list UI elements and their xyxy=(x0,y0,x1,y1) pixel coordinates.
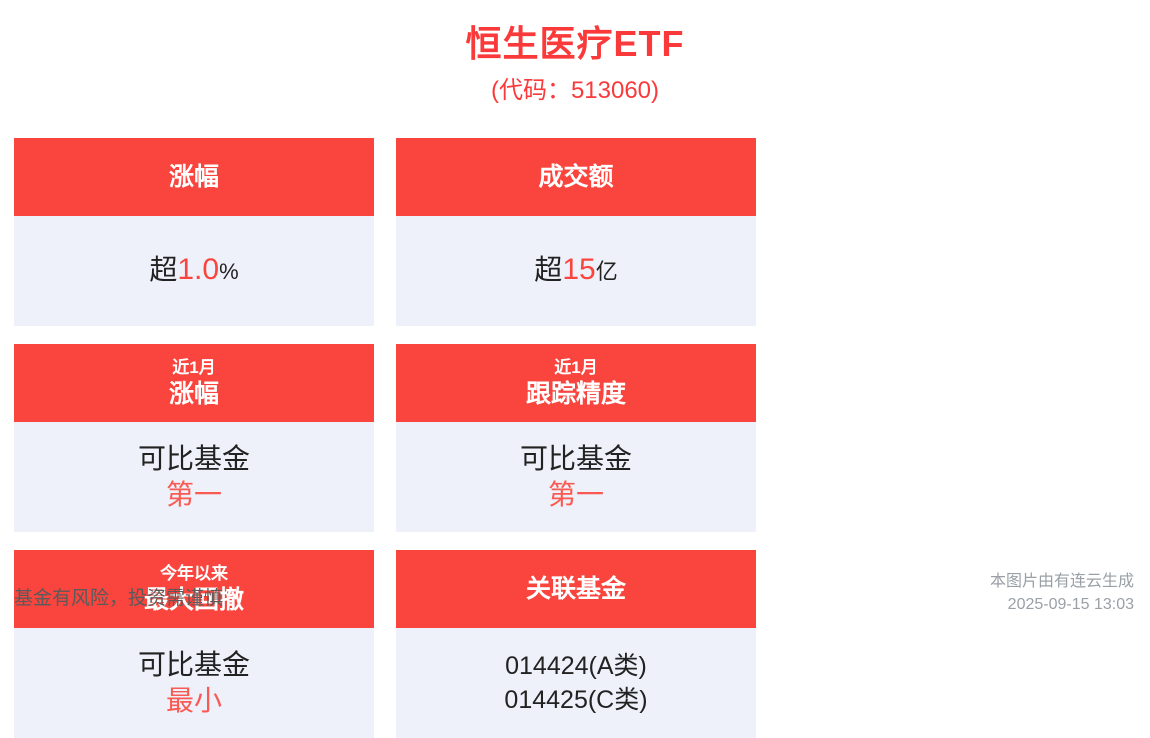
generation-info: 本图片由有连云生成 2025-09-15 13:03 xyxy=(990,570,1134,616)
card-value-row: 超15亿 xyxy=(534,252,617,290)
metric-card-related-funds: 关联基金 014424(A类) 014425(C类) xyxy=(396,550,756,738)
card-value-row: 超1.0% xyxy=(149,252,238,290)
card-body: 可比基金 第一 xyxy=(396,422,756,532)
fund-code: (代码：513060) xyxy=(0,74,1150,108)
card-header-title: 关联基金 xyxy=(526,574,626,605)
card-header-subtitle: 今年以来 xyxy=(160,563,228,585)
card-value-line-1: 可比基金 xyxy=(520,441,632,477)
card-header-title: 成交额 xyxy=(538,162,613,193)
poster-root: 恒生医疗ETF (代码：513060) 涨幅 超1.0% 成交额 超15亿 xyxy=(0,0,1150,632)
card-body: 超1.0% xyxy=(14,216,374,326)
related-fund-code-c: 014425(C类) xyxy=(504,683,647,717)
card-body: 可比基金 最小 xyxy=(14,628,374,738)
card-header-title: 涨幅 xyxy=(169,379,219,410)
card-header-title: 涨幅 xyxy=(169,162,219,193)
header: 恒生医疗ETF (代码：513060) xyxy=(0,0,1150,108)
card-header-subtitle: 近1月 xyxy=(172,357,215,379)
value-prefix: 超 xyxy=(149,254,177,285)
card-body: 超15亿 xyxy=(396,216,756,326)
value-number: 1.0 xyxy=(177,253,219,286)
card-value-line-2: 第一 xyxy=(166,477,222,513)
page-title: 恒生医疗ETF xyxy=(0,22,1150,66)
risk-disclaimer: 基金有风险，投资需谨慎 xyxy=(14,583,223,610)
card-header-title: 跟踪精度 xyxy=(526,379,626,410)
card-header: 近1月 跟踪精度 xyxy=(396,344,756,422)
metric-card-1month-change: 近1月 涨幅 可比基金 第一 xyxy=(14,344,374,532)
card-header: 成交额 xyxy=(396,138,756,216)
value-number: 15 xyxy=(562,253,595,286)
card-body: 014424(A类) 014425(C类) xyxy=(396,628,756,738)
card-value-line-1: 可比基金 xyxy=(138,441,250,477)
value-prefix: 超 xyxy=(534,254,562,285)
related-fund-code-a: 014424(A类) xyxy=(505,649,647,683)
metric-card-turnover: 成交额 超15亿 xyxy=(396,138,756,326)
card-header-subtitle: 近1月 xyxy=(554,357,597,379)
metric-card-change: 涨幅 超1.0% xyxy=(14,138,374,326)
metric-card-tracking-accuracy: 近1月 跟踪精度 可比基金 第一 xyxy=(396,344,756,532)
metric-card-grid: 涨幅 超1.0% 成交额 超15亿 近1月 涨幅 可比基金 第一 xyxy=(14,138,1136,738)
card-value-line-2: 第一 xyxy=(548,477,604,513)
card-header: 近1月 涨幅 xyxy=(14,344,374,422)
card-header: 涨幅 xyxy=(14,138,374,216)
card-body: 可比基金 第一 xyxy=(14,422,374,532)
value-unit: 亿 xyxy=(596,259,618,284)
metric-card-max-drawdown: 今年以来 最大回撤 可比基金 最小 xyxy=(14,550,374,738)
card-header: 关联基金 xyxy=(396,550,756,628)
generation-timestamp: 2025-09-15 13:03 xyxy=(990,593,1134,616)
card-value-line-2: 最小 xyxy=(166,683,222,719)
generation-source: 本图片由有连云生成 xyxy=(990,570,1134,593)
value-unit: % xyxy=(219,259,239,284)
card-value-line-1: 可比基金 xyxy=(138,647,250,683)
